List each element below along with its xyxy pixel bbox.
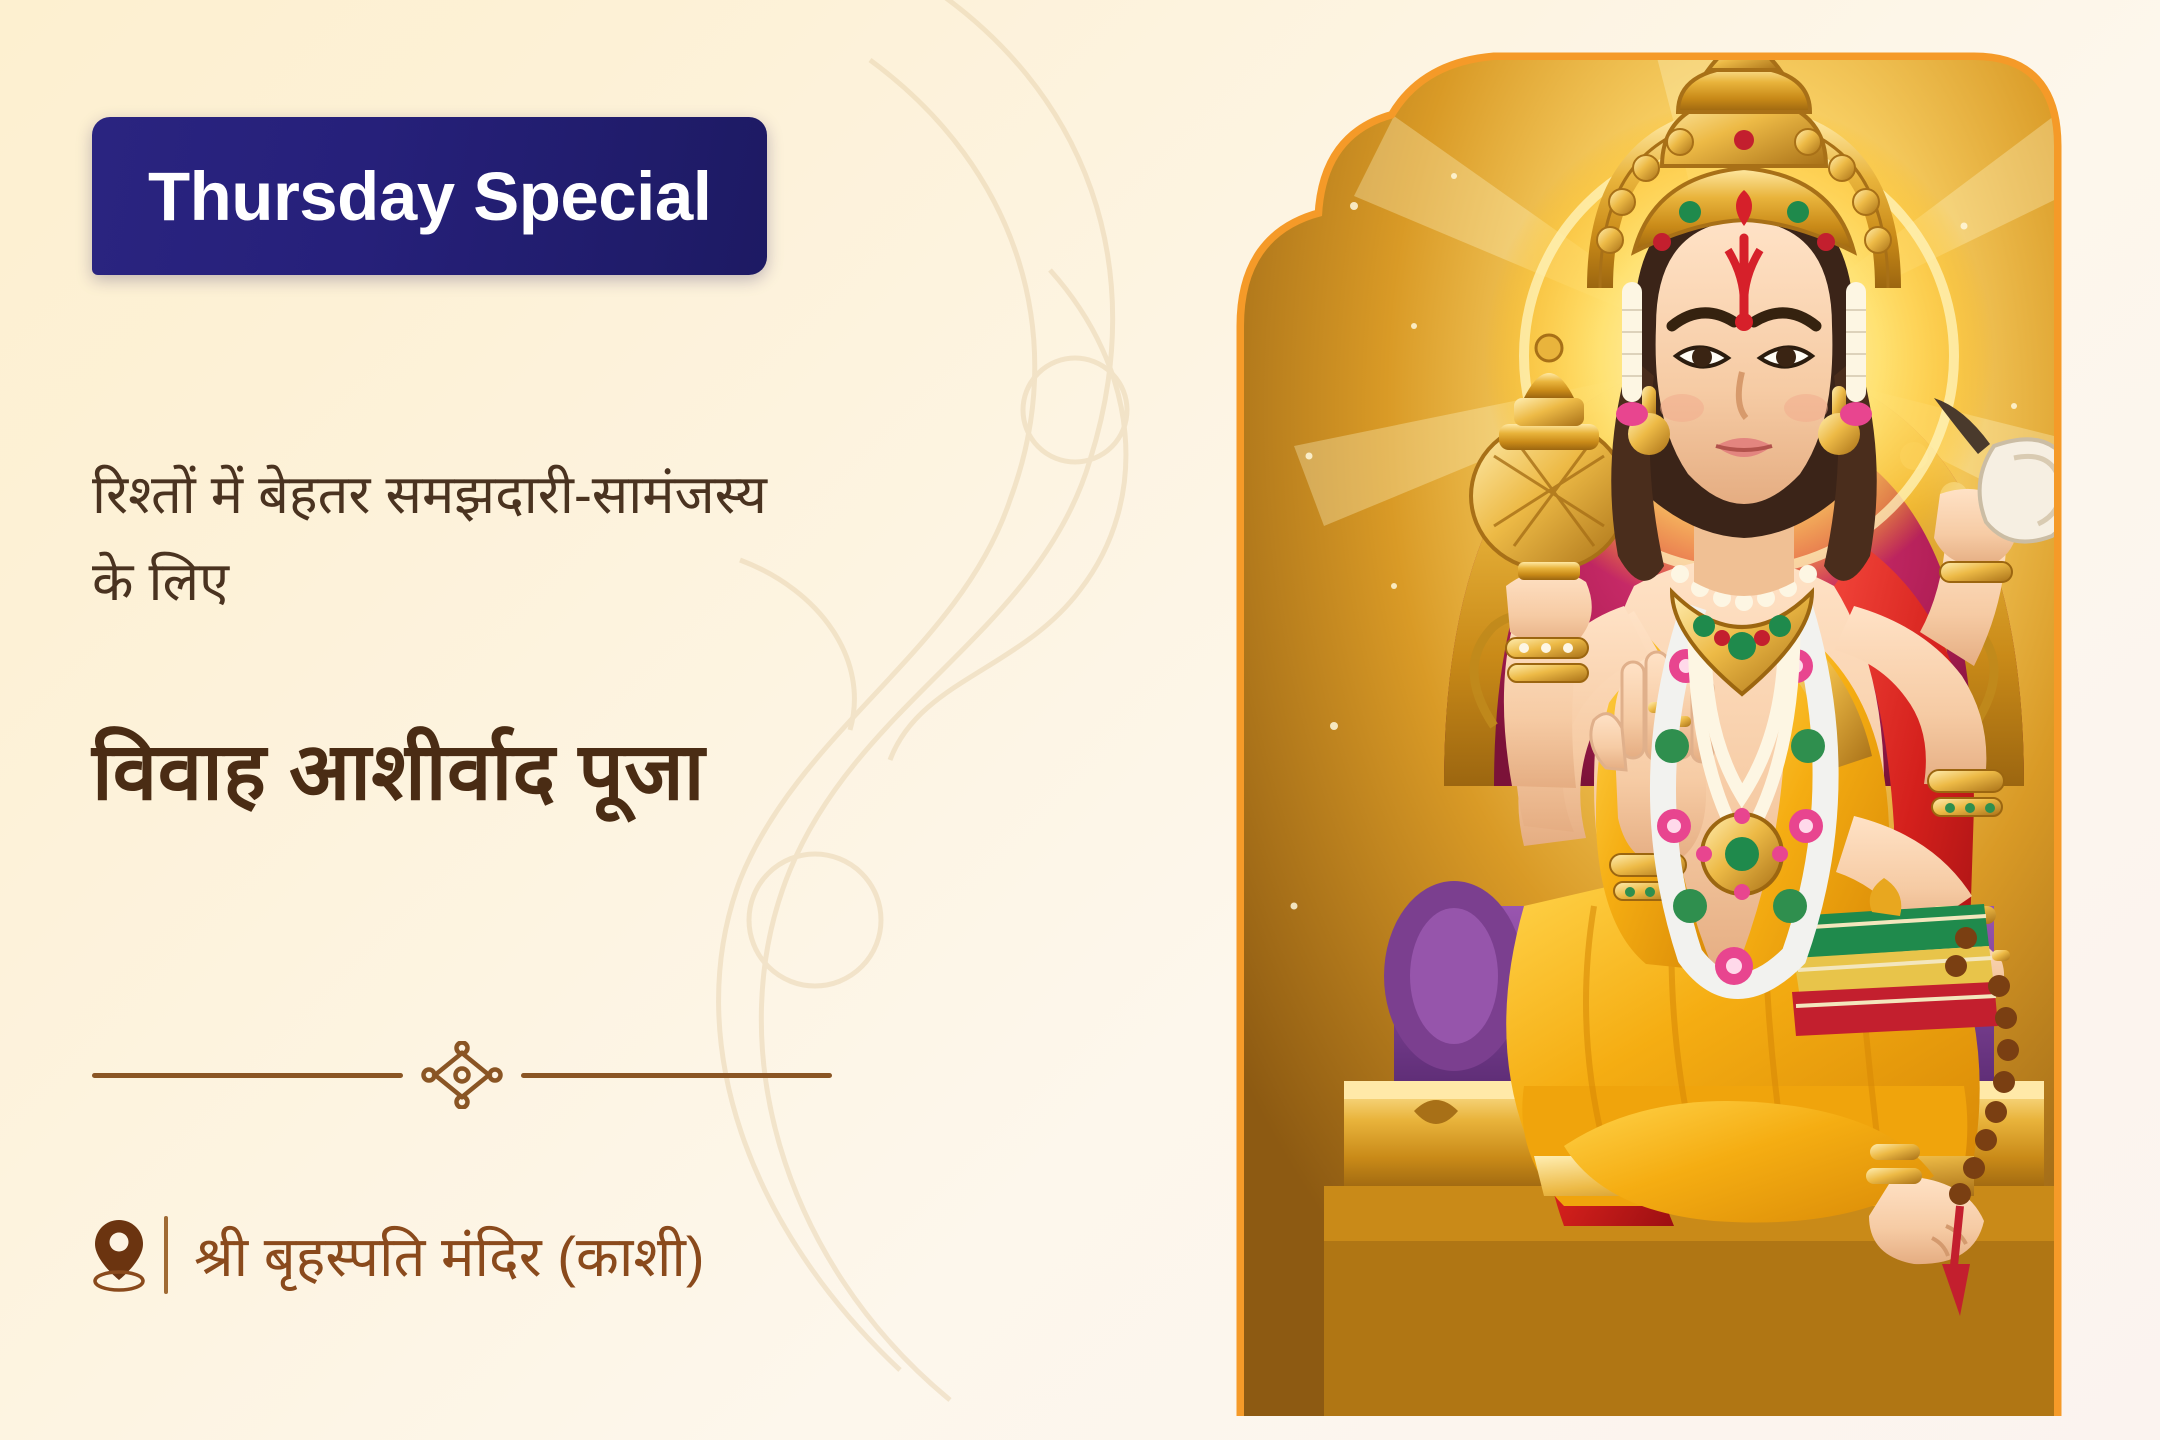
badge-label: Thursday Special [148,162,711,231]
content-column: Thursday Special रिश्तों में बेहतर समझदा… [0,0,1060,1440]
map-pin-icon [88,1217,150,1293]
deity-artwork-panel [1094,26,2134,1416]
subtitle-line-2: के लिए [92,539,1002,626]
location-divider [164,1216,168,1294]
puja-title: विवाह आशीर्वाद पूजा [92,720,1052,824]
ornamental-divider [92,1040,832,1110]
divider-line-left [92,1073,403,1078]
subtitle-line-1: रिश्तों में बेहतर समझदारी-सामंजस्य [92,452,1002,539]
subtitle-block: रिश्तों में बेहतर समझदारी-सामंजस्य के लि… [92,452,1002,627]
temple-location: श्री बृहस्पति मंदिर (काशी) [88,1200,705,1310]
divider-line-right [521,1073,832,1078]
diamond-ornament-icon [419,1041,505,1109]
promo-banner: Thursday Special रिश्तों में बेहतर समझदा… [0,0,2160,1440]
brihaspati-illustration [1094,26,2134,1416]
thursday-special-badge[interactable]: Thursday Special [92,117,767,275]
temple-name: श्री बृहस्पति मंदिर (काशी) [194,1217,705,1293]
